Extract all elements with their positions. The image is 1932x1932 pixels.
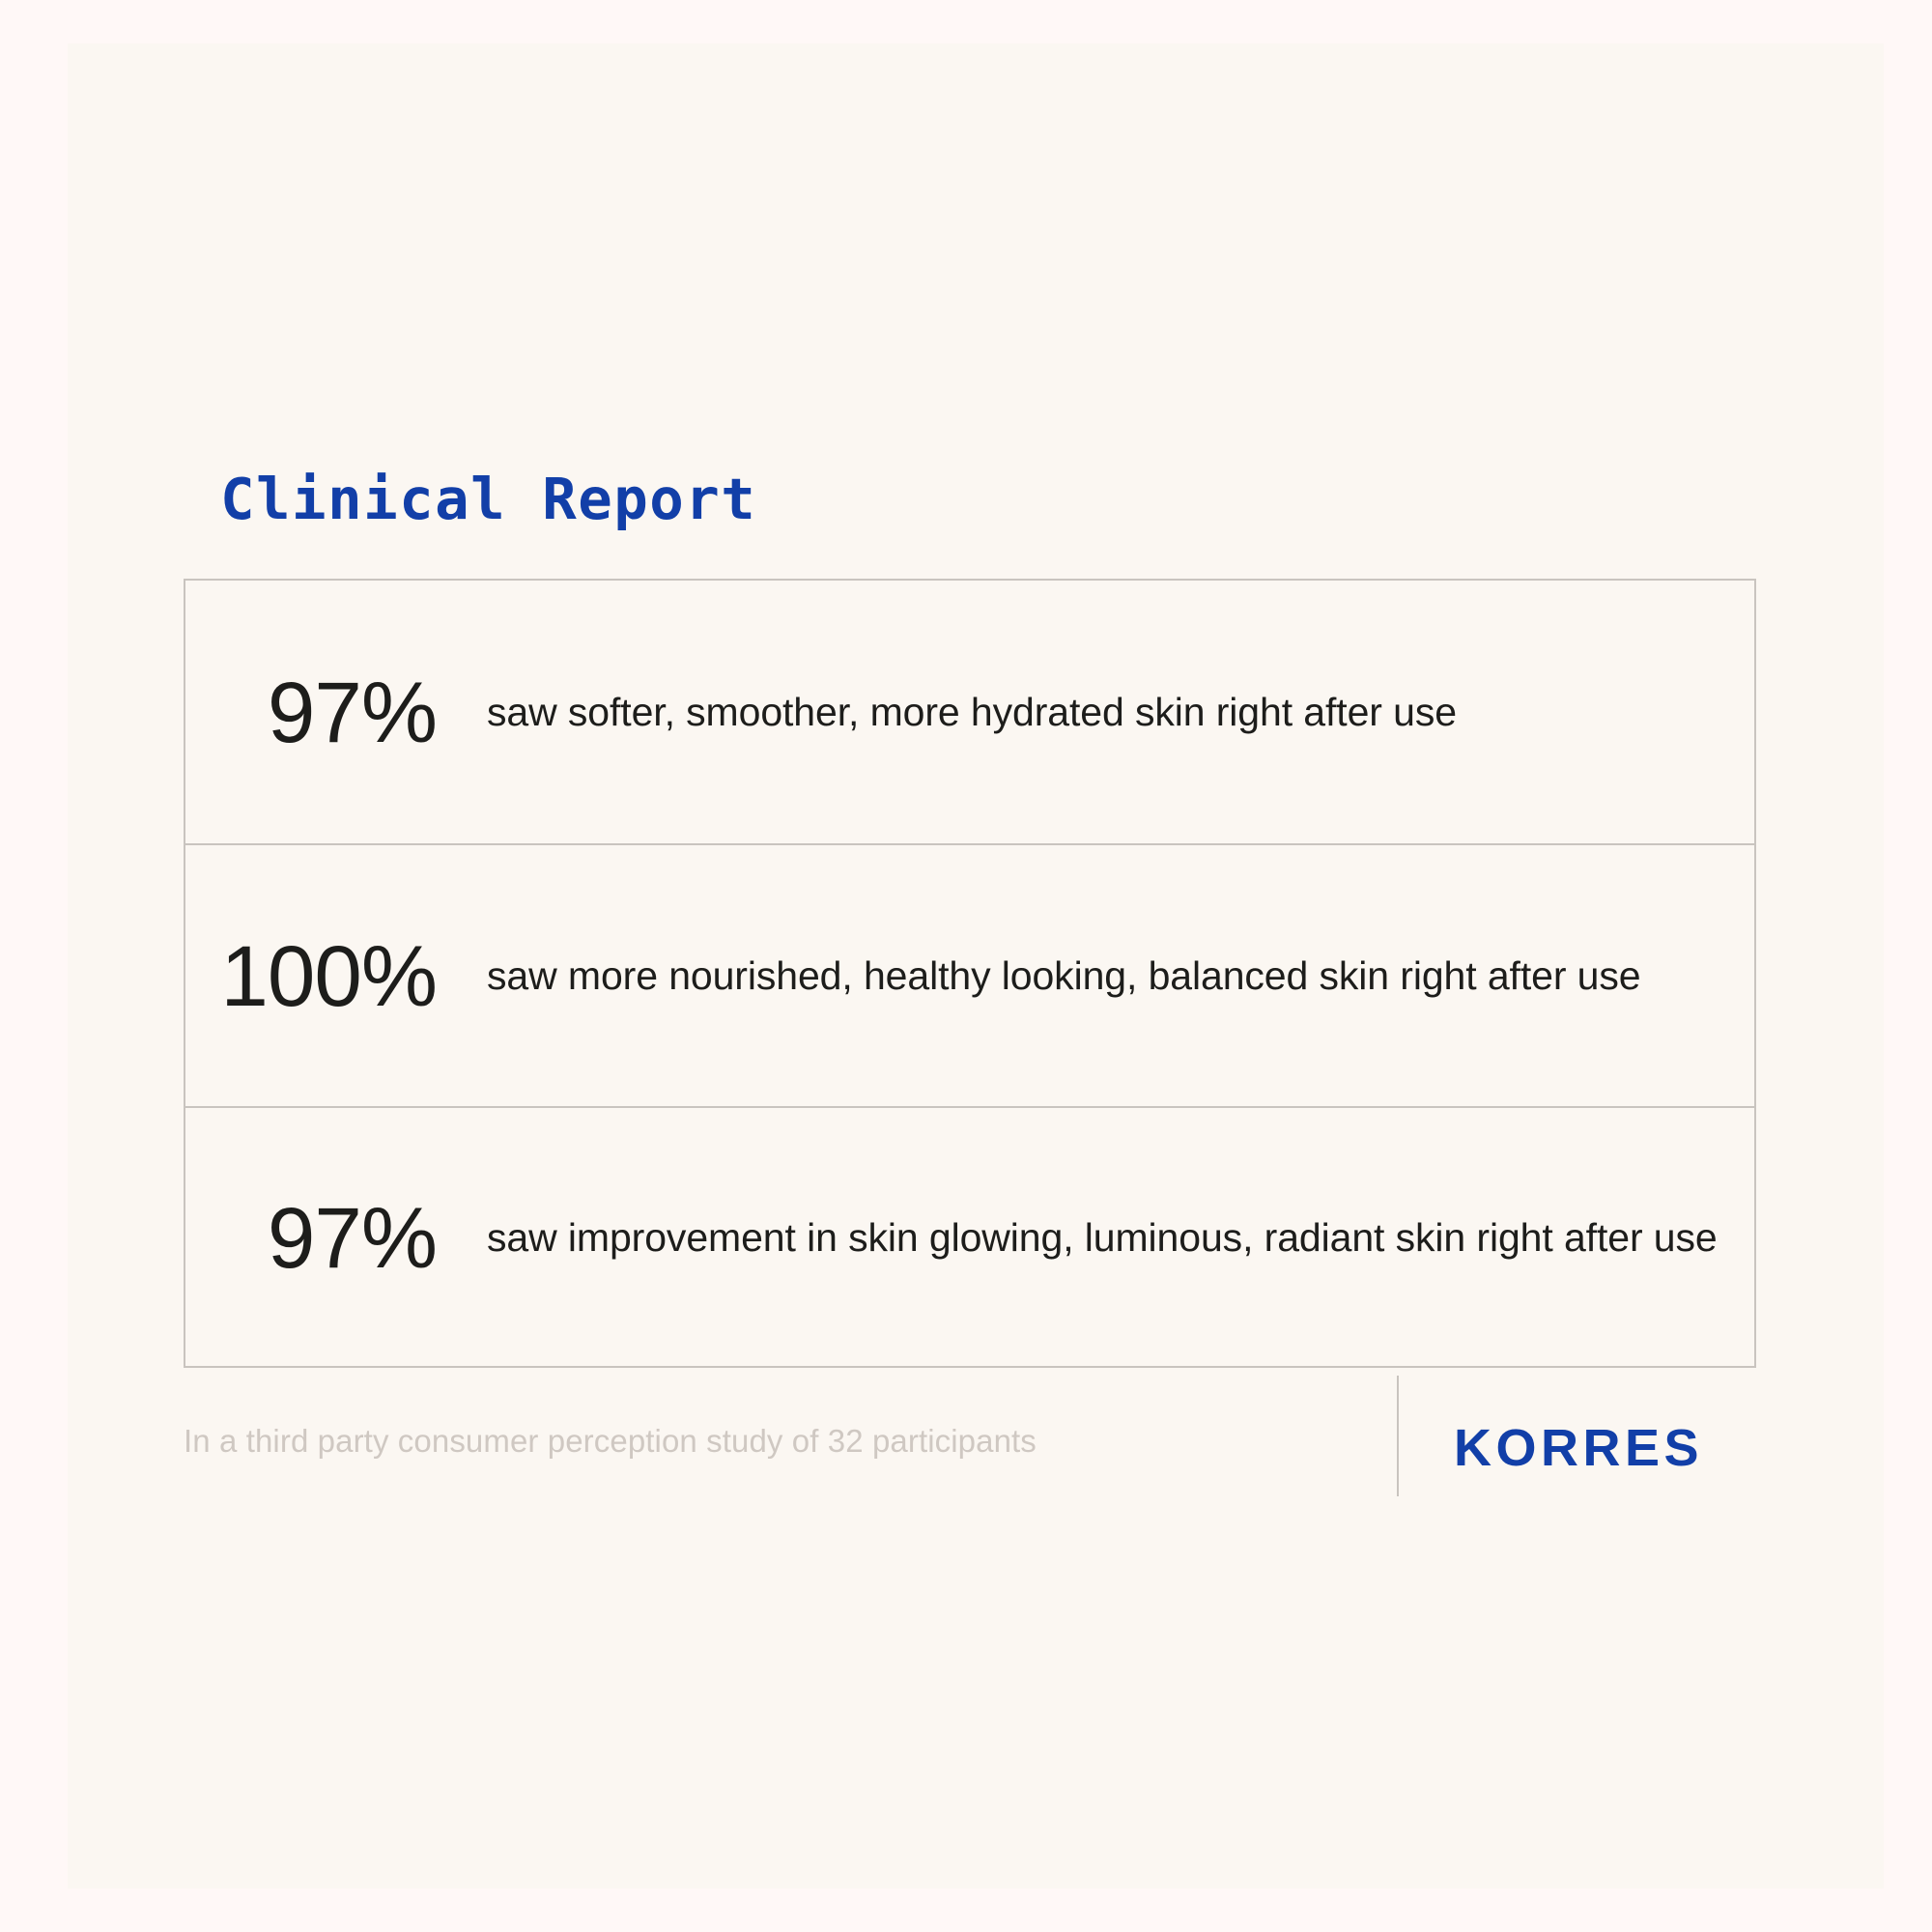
stat-percent-value: 100% xyxy=(185,933,437,1019)
stat-percent-value: 97% xyxy=(185,669,437,755)
footer-divider xyxy=(1397,1376,1399,1496)
korres-brand-logo: KORRES xyxy=(1454,1422,1703,1474)
page-title: Clinical Report xyxy=(220,470,756,527)
table-row: 100% saw more nourished, healthy looking… xyxy=(185,845,1754,1108)
table-row: 97% saw softer, smoother, more hydrated … xyxy=(185,581,1754,845)
stat-description: saw softer, smoother, more hydrated skin… xyxy=(437,686,1754,738)
stat-description: saw more nourished, healthy looking, bal… xyxy=(437,950,1754,1002)
clinical-results-table: 97% saw softer, smoother, more hydrated … xyxy=(184,579,1756,1368)
study-disclaimer: In a third party consumer perception stu… xyxy=(184,1425,1037,1457)
table-row: 97% saw improvement in skin glowing, lum… xyxy=(185,1108,1754,1368)
screenshot-stage: Clinical Report 97% saw softer, smoother… xyxy=(0,0,1932,1932)
stat-description: saw improvement in skin glowing, luminou… xyxy=(437,1211,1754,1264)
stat-percent-value: 97% xyxy=(185,1195,437,1281)
